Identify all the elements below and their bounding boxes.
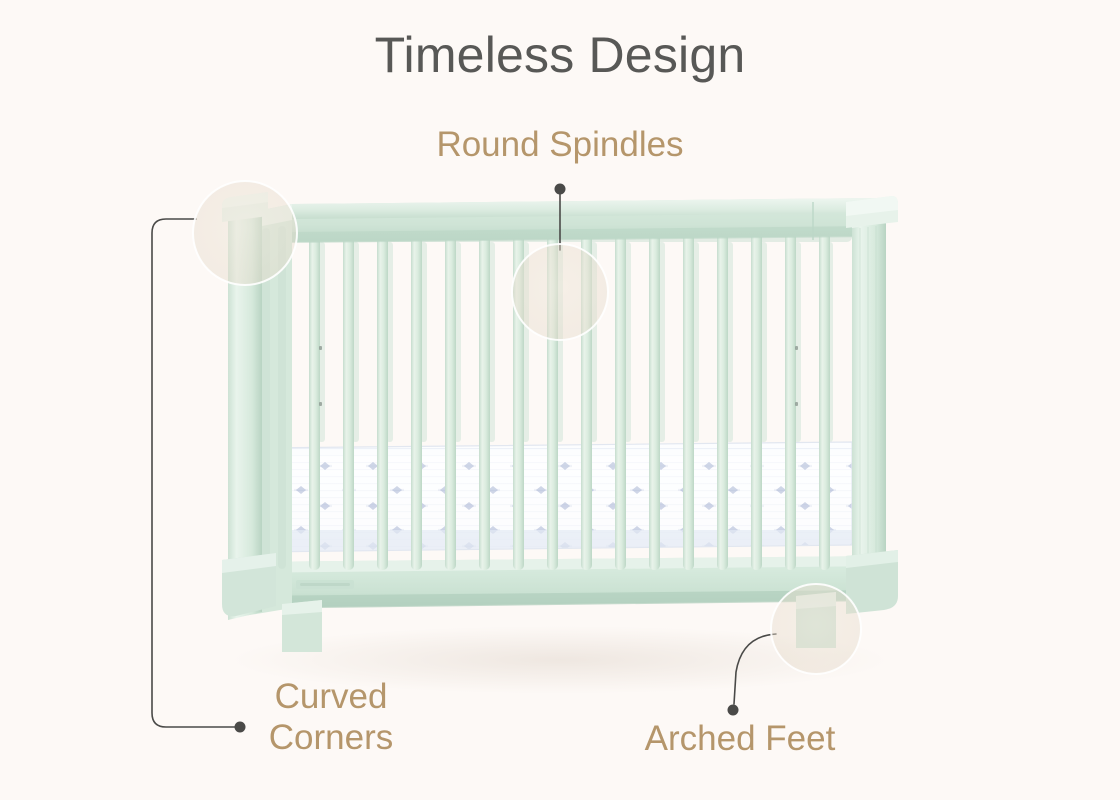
page-title: Timeless Design <box>0 26 1120 84</box>
corner-post-right <box>846 196 898 614</box>
annotation-label-curved-corners: Curved Corners <box>196 676 466 759</box>
top-rail <box>292 198 876 243</box>
infographic-canvas: Timeless Design Round Spindles Curved Co… <box>0 0 1120 800</box>
corner-post-left <box>222 192 292 620</box>
crib-illustration <box>0 0 1120 800</box>
annotation-label-arched-feet: Arched Feet <box>600 718 880 759</box>
annotation-label-round-spindles: Round Spindles <box>0 124 1120 165</box>
